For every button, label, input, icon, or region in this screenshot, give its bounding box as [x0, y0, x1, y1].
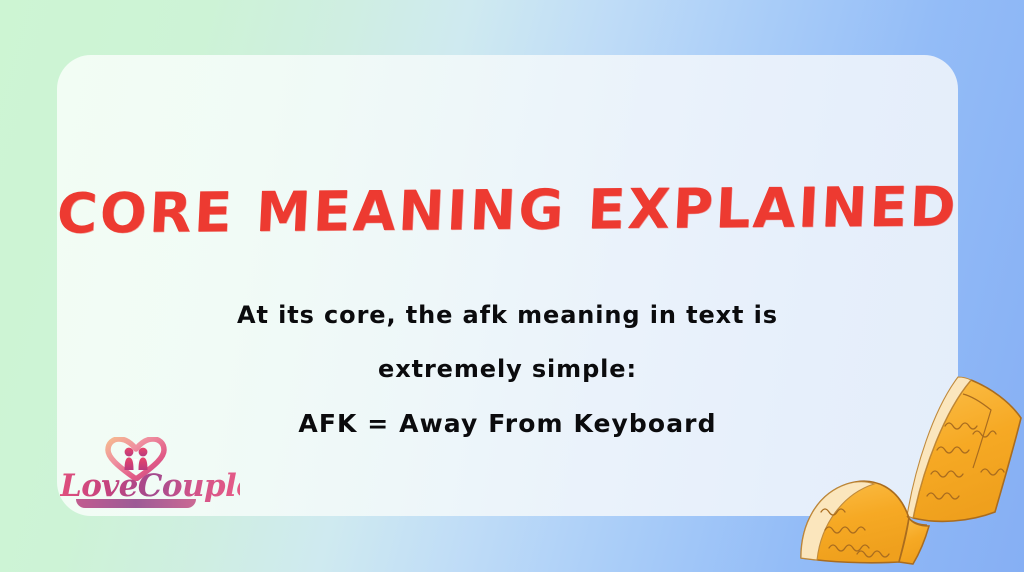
brand-logo: LoveCouplez [60, 437, 240, 509]
page-title: CORE MEANING EXPLAINED [55, 179, 959, 241]
slide-canvas: CORE MEANING EXPLAINED At its core, the … [0, 0, 1024, 572]
logo-underline-swoosh [76, 499, 196, 508]
body-line-1: At its core, the afk meaning in text is [57, 303, 958, 327]
open-book-icon [795, 372, 1024, 572]
brand-name: LoveCouplez [60, 471, 240, 502]
